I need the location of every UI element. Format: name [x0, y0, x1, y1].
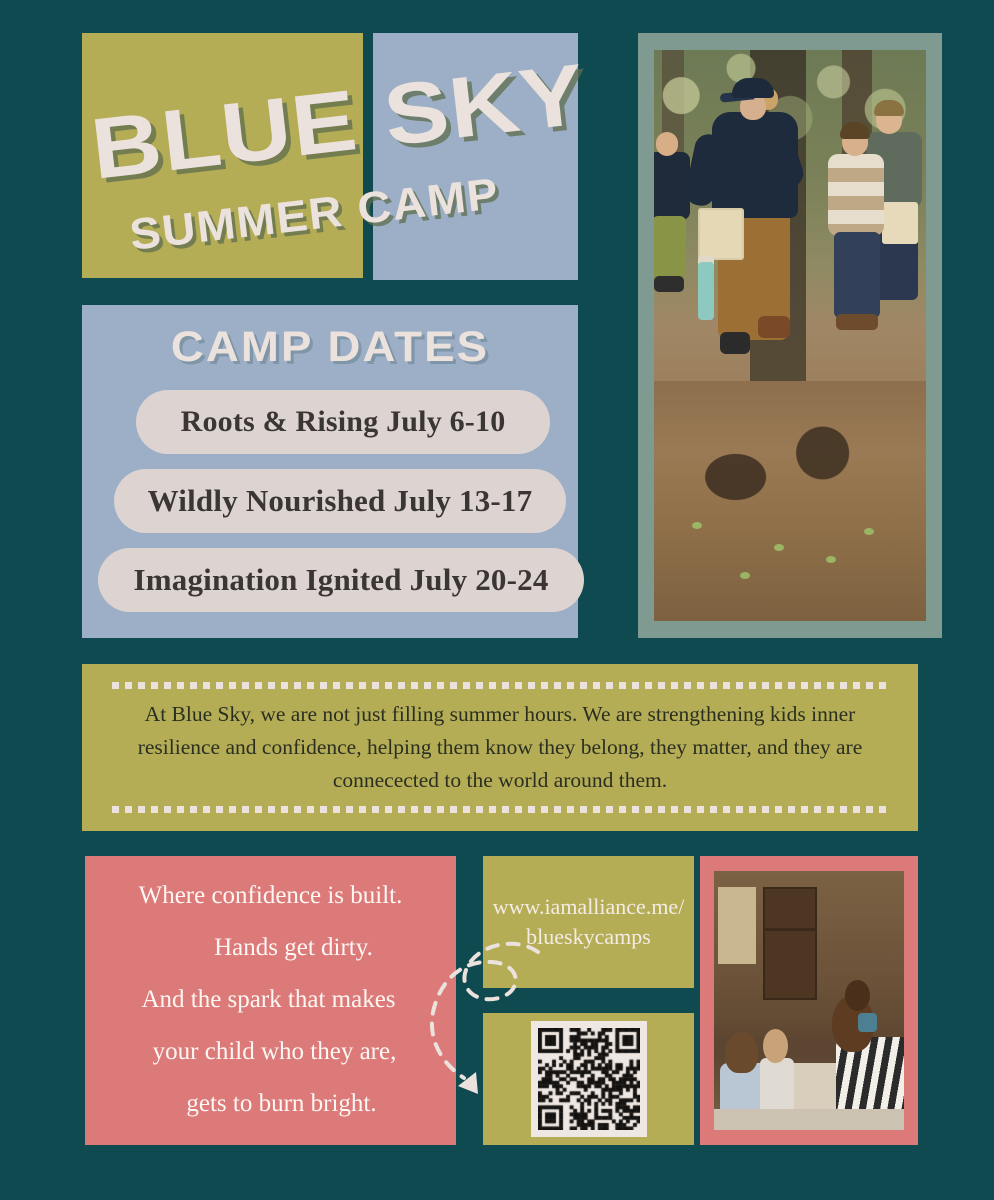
- camp-dates-heading: CAMP DATES: [84, 323, 576, 372]
- photo-indoor-craft: [714, 871, 904, 1130]
- qr-code-icon[interactable]: [538, 1028, 640, 1130]
- qr-code-block[interactable]: [483, 1013, 694, 1145]
- sprout: [774, 544, 784, 551]
- sprout: [692, 522, 702, 529]
- dotted-divider-bottom: [112, 806, 888, 813]
- sprout: [826, 556, 836, 563]
- photo-frame-top: [638, 33, 942, 638]
- photo-frame-bottom: [700, 856, 918, 1145]
- tagline-line: gets to burn bright.: [107, 1090, 434, 1119]
- website-url-line2: blueskycamps: [526, 924, 651, 949]
- session-pill[interactable]: Imagination Ignited July 20-24: [98, 548, 584, 612]
- qr-code-padding: [531, 1021, 647, 1137]
- child-head: [763, 1029, 788, 1063]
- website-url-line1: www.iamalliance.me/: [493, 894, 685, 919]
- session-pill[interactable]: Roots & Rising July 6-10: [136, 390, 550, 454]
- poster-canvas: BLUE SKY SUMMER CAMP CAMP DATES Roots & …: [0, 0, 994, 1200]
- photo-forest-hike: [654, 50, 926, 621]
- dotted-divider-top: [112, 682, 888, 689]
- tagline-line: And the spark that makes: [107, 986, 434, 1015]
- tagline-line: Where confidence is built.: [107, 882, 434, 911]
- rug: [714, 1109, 904, 1130]
- tagline-block: Where confidence is built. Hands get dir…: [85, 856, 456, 1145]
- tagline-line: your child who they are,: [107, 1038, 434, 1067]
- hair-scrunchie: [858, 1013, 877, 1031]
- forest-floor: [654, 381, 926, 621]
- shelf: [763, 887, 816, 1001]
- title-blue-block: [373, 33, 578, 280]
- tagline-line: Hands get dirty.: [107, 934, 434, 963]
- sprout: [864, 528, 874, 535]
- title-olive-block: [82, 33, 363, 278]
- mission-statement-block: At Blue Sky, we are not just filling sum…: [82, 664, 918, 831]
- window: [718, 887, 756, 965]
- mission-text: At Blue Sky, we are not just filling sum…: [112, 696, 888, 798]
- hair-bun: [845, 980, 870, 1011]
- session-pill[interactable]: Wildly Nourished July 13-17: [114, 469, 566, 533]
- website-url: www.iamalliance.me/ blueskycamps: [493, 892, 685, 951]
- child-head: [725, 1032, 757, 1073]
- website-url-block[interactable]: www.iamalliance.me/ blueskycamps: [483, 856, 694, 988]
- shelf-divider: [763, 928, 816, 931]
- camp-dates-panel: CAMP DATES Roots & Rising July 6-10 Wild…: [82, 305, 578, 638]
- sprout: [740, 572, 750, 579]
- child-body: [760, 1058, 794, 1115]
